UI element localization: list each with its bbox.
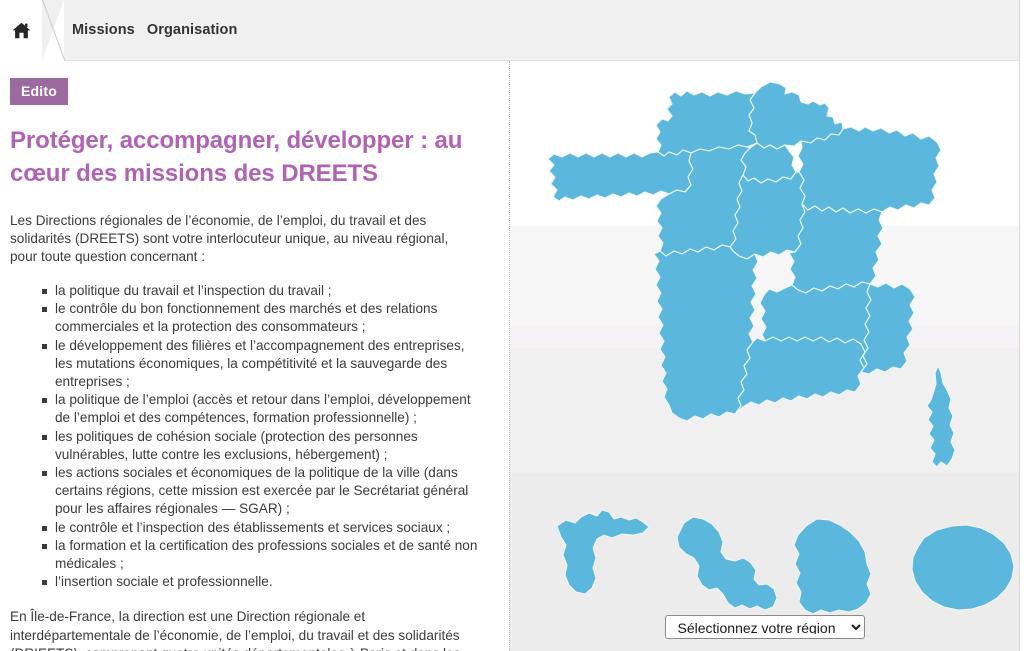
map-region-bourgogne-franche-comte[interactable] [789,204,883,293]
nav-link-organisation[interactable]: Organisation [147,22,238,38]
tab-separator-icon [42,0,66,61]
idf-paragraph: En Île-de-France, la direction est une D… [10,608,480,651]
list-item: la formation et la certification des pro… [55,537,485,573]
edito-badge: Edito [10,78,68,105]
editorial-column: Edito Protéger, accompagner, développer … [0,61,509,651]
map-column: Sélectionnez votre régionAuvergne-Rhône-… [509,61,1020,651]
page-title: Protéger, accompagner, développer : au c… [10,124,480,190]
house-icon [12,22,31,39]
region-select[interactable]: Sélectionnez votre régionAuvergne-Rhône-… [665,615,865,639]
home-tab-button[interactable] [0,0,42,61]
map-region-centre-val-de-loire[interactable] [730,172,805,259]
map-region-corse[interactable] [927,366,955,467]
nav-link-missions[interactable]: Missions [72,22,135,38]
list-item: l’insertion sociale et professionnelle. [55,573,485,591]
list-item: les actions sociales et économiques de l… [55,464,485,519]
intro-paragraph: Les Directions régionales de l’économie,… [10,212,472,266]
map-region-occitanie[interactable] [735,337,865,414]
map-region-guadeloupe[interactable] [557,510,649,594]
list-item: les politiques de cohésion sociale (prot… [55,428,485,464]
map-region-la-reunion[interactable] [912,525,1014,610]
map-background: Sélectionnez votre régionAuvergne-Rhône-… [509,61,1020,651]
missions-list: la politique du travail et l’inspection … [10,282,491,591]
map-region-martinique[interactable] [677,517,777,610]
france-regions-map[interactable] [509,61,1020,651]
list-item: le contrôle et l’inspection des établiss… [55,519,485,537]
top-navigation-bar: Missions Organisation [0,0,1020,61]
map-region-guyane[interactable] [794,519,871,614]
page-scrollbar[interactable] [1019,0,1024,651]
map-region-paca[interactable] [861,283,915,374]
column-divider [509,61,511,651]
list-item: la politique du travail et l’inspection … [55,282,485,300]
region-select-row: Sélectionnez votre régionAuvergne-Rhône-… [509,615,1020,639]
list-item: le contrôle du bon fonctionnement des ma… [55,300,485,336]
primary-nav: Missions Organisation [72,0,237,60]
map-region-grand-est[interactable] [798,127,941,213]
list-item: la politique de l’emploi (accès et retou… [55,391,485,427]
list-item: le développement des filières et l’accom… [55,337,485,392]
main-content: Edito Protéger, accompagner, développer … [0,61,1020,651]
